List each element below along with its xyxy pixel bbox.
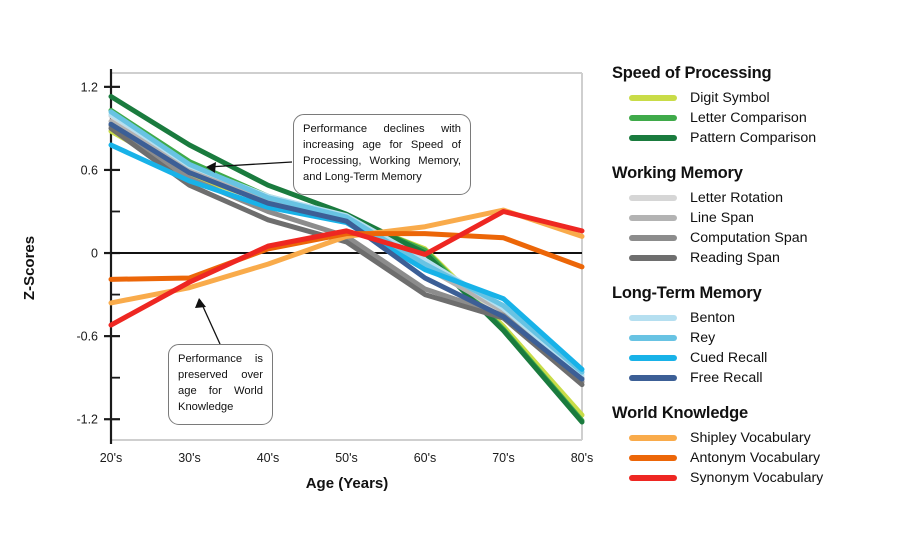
- x-tick-label: 50's: [335, 451, 358, 465]
- y-axis-title: Z-Scores: [21, 236, 38, 300]
- legend-color-swatch: [629, 455, 677, 461]
- legend-color-swatch: [629, 335, 677, 341]
- legend-color-swatch: [629, 375, 677, 381]
- legend-color-swatch: [629, 255, 677, 261]
- legend-item-label: Reading Span: [690, 250, 780, 266]
- legend-item[interactable]: Synonym Vocabulary: [612, 468, 900, 488]
- x-tick-label: 60's: [414, 451, 437, 465]
- legend-group-heading: World Knowledge: [612, 404, 900, 423]
- legend-color-swatch: [629, 435, 677, 441]
- legend-item-label: Cued Recall: [690, 350, 767, 366]
- legend-item[interactable]: Reading Span: [612, 248, 900, 268]
- legend-color-swatch: [629, 215, 677, 221]
- legend-item-label: Rey: [690, 330, 715, 346]
- x-tick-label: 30's: [178, 451, 201, 465]
- legend-color-swatch: [629, 315, 677, 321]
- legend-item[interactable]: Shipley Vocabulary: [612, 428, 900, 448]
- annotation-callout-decline: Performance declines with increasing age…: [293, 114, 471, 195]
- legend-color-swatch: [629, 195, 677, 201]
- legend-color-swatch: [629, 475, 677, 481]
- legend-item[interactable]: Free Recall: [612, 368, 900, 388]
- legend-item[interactable]: Computation Span: [612, 228, 900, 248]
- legend-group-heading: Speed of Processing: [612, 64, 900, 83]
- chart-legend: Speed of ProcessingDigit SymbolLetter Co…: [612, 64, 900, 488]
- legend-item[interactable]: Line Span: [612, 208, 900, 228]
- y-tick-label: -0.6: [76, 330, 98, 344]
- legend-item-label: Benton: [690, 310, 735, 326]
- legend-item-label: Pattern Comparison: [690, 130, 816, 146]
- x-tick-label: 20's: [100, 451, 123, 465]
- legend-color-swatch: [629, 235, 677, 241]
- legend-color-swatch: [629, 115, 677, 121]
- legend-item-label: Line Span: [690, 210, 754, 226]
- legend-group-heading: Working Memory: [612, 164, 900, 183]
- legend-item-label: Antonym Vocabulary: [690, 450, 820, 466]
- legend-item[interactable]: Benton: [612, 308, 900, 328]
- x-axis-title: Age (Years): [306, 475, 389, 492]
- annotation-callout-preserved: Performance is preserved over age for Wo…: [168, 344, 273, 425]
- x-tick-label: 70's: [492, 451, 515, 465]
- figure-root: 1.20.60-0.6-1.2 20's30's40's50's60's70's…: [0, 0, 900, 556]
- legend-item[interactable]: Digit Symbol: [612, 88, 900, 108]
- y-tick-label: 0.6: [81, 163, 98, 177]
- line-chart: 1.20.60-0.6-1.2 20's30's40's50's60's70's…: [0, 0, 600, 520]
- legend-item-label: Shipley Vocabulary: [690, 430, 811, 446]
- legend-item[interactable]: Pattern Comparison: [612, 128, 900, 148]
- legend-group-heading: Long-Term Memory: [612, 284, 900, 303]
- legend-item[interactable]: Letter Rotation: [612, 188, 900, 208]
- legend-item-label: Computation Span: [690, 230, 808, 246]
- y-axis-tick-labels: 1.20.60-0.6-1.2: [76, 80, 98, 426]
- legend-item-label: Digit Symbol: [690, 90, 770, 106]
- legend-group: Working MemoryLetter RotationLine SpanCo…: [612, 164, 900, 268]
- legend-item[interactable]: Antonym Vocabulary: [612, 448, 900, 468]
- legend-color-swatch: [629, 135, 677, 141]
- legend-item[interactable]: Rey: [612, 328, 900, 348]
- legend-item-label: Letter Comparison: [690, 110, 807, 126]
- x-tick-label: 40's: [257, 451, 280, 465]
- legend-item-label: Synonym Vocabulary: [690, 470, 823, 486]
- y-tick-label: -1.2: [76, 413, 98, 427]
- x-tick-label: 80's: [571, 451, 594, 465]
- legend-item-label: Letter Rotation: [690, 190, 783, 206]
- y-tick-label: 0: [91, 247, 98, 261]
- legend-group: Speed of ProcessingDigit SymbolLetter Co…: [612, 64, 900, 148]
- legend-group: Long-Term MemoryBentonReyCued RecallFree…: [612, 284, 900, 388]
- legend-item[interactable]: Cued Recall: [612, 348, 900, 368]
- legend-group: World KnowledgeShipley VocabularyAntonym…: [612, 404, 900, 488]
- y-tick-label: 1.2: [81, 80, 98, 94]
- legend-color-swatch: [629, 355, 677, 361]
- chart-panel: 1.20.60-0.6-1.2 20's30's40's50's60's70's…: [0, 0, 600, 520]
- legend-item-label: Free Recall: [690, 370, 763, 386]
- legend-item[interactable]: Letter Comparison: [612, 108, 900, 128]
- x-axis-tick-labels: 20's30's40's50's60's70's80's: [100, 451, 594, 465]
- legend-color-swatch: [629, 95, 677, 101]
